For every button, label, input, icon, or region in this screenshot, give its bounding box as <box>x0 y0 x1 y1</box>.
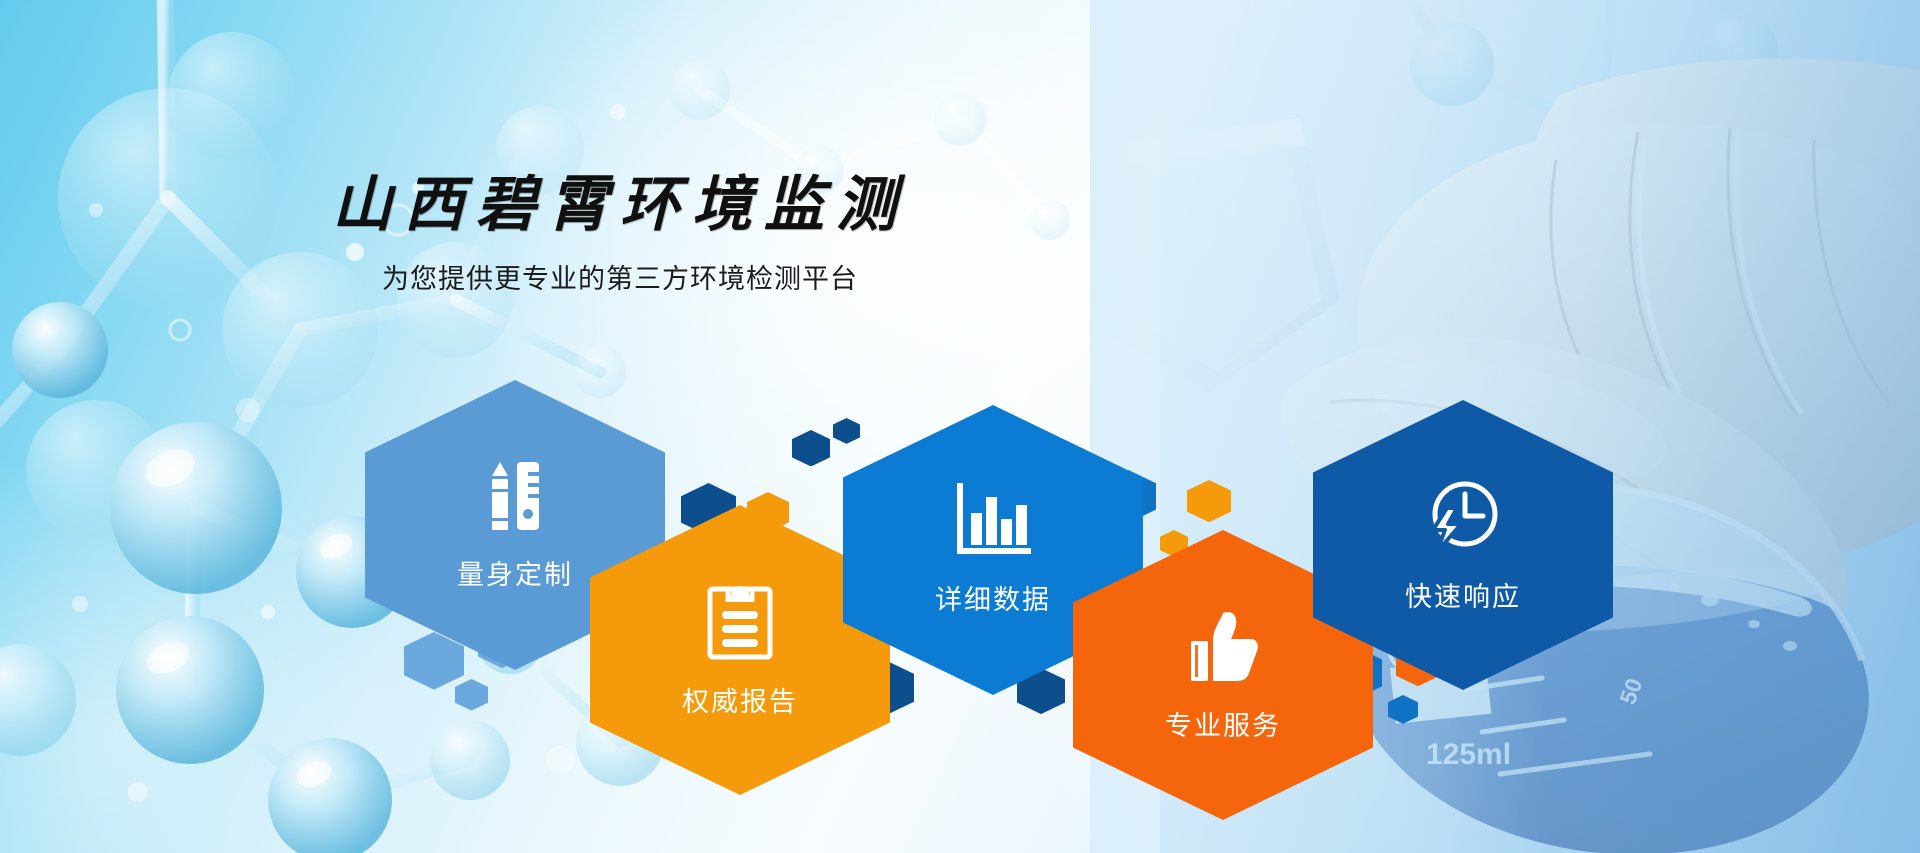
hex-blue-c <box>1388 695 1418 724</box>
svg-text:125ml: 125ml <box>1426 738 1511 771</box>
hex-orange-c <box>1187 480 1231 522</box>
title-block: 山西碧霄环境监测 为您提供更专业的第三方环境检测平台 <box>0 175 1240 296</box>
thumbs-up-icon <box>1185 607 1261 690</box>
svg-text:50: 50 <box>1614 675 1647 708</box>
bar-chart-icon <box>954 483 1032 564</box>
page-subtitle: 为您提供更专业的第三方环境检测平台 <box>0 257 1240 296</box>
pencil-ruler-icon <box>478 458 552 539</box>
feature-hex-label: 权威报告 <box>682 680 798 719</box>
hex-light-blue-c <box>455 679 488 711</box>
hex-navy-c <box>833 418 860 444</box>
feature-hex-label: 详细数据 <box>935 578 1051 617</box>
clipboard-icon <box>704 581 776 666</box>
feature-hex-label: 专业服务 <box>1165 704 1281 743</box>
feature-hex-label: 快速响应 <box>1405 575 1521 614</box>
feature-hex-label: 量身定制 <box>457 553 573 592</box>
page-title: 山西碧霄环境监测 <box>0 175 1240 235</box>
hero-banner: 100 50 125ml TAI FONG T F <box>0 0 1920 853</box>
hex-navy-b <box>792 430 830 466</box>
clock-bolt-icon <box>1423 476 1503 561</box>
